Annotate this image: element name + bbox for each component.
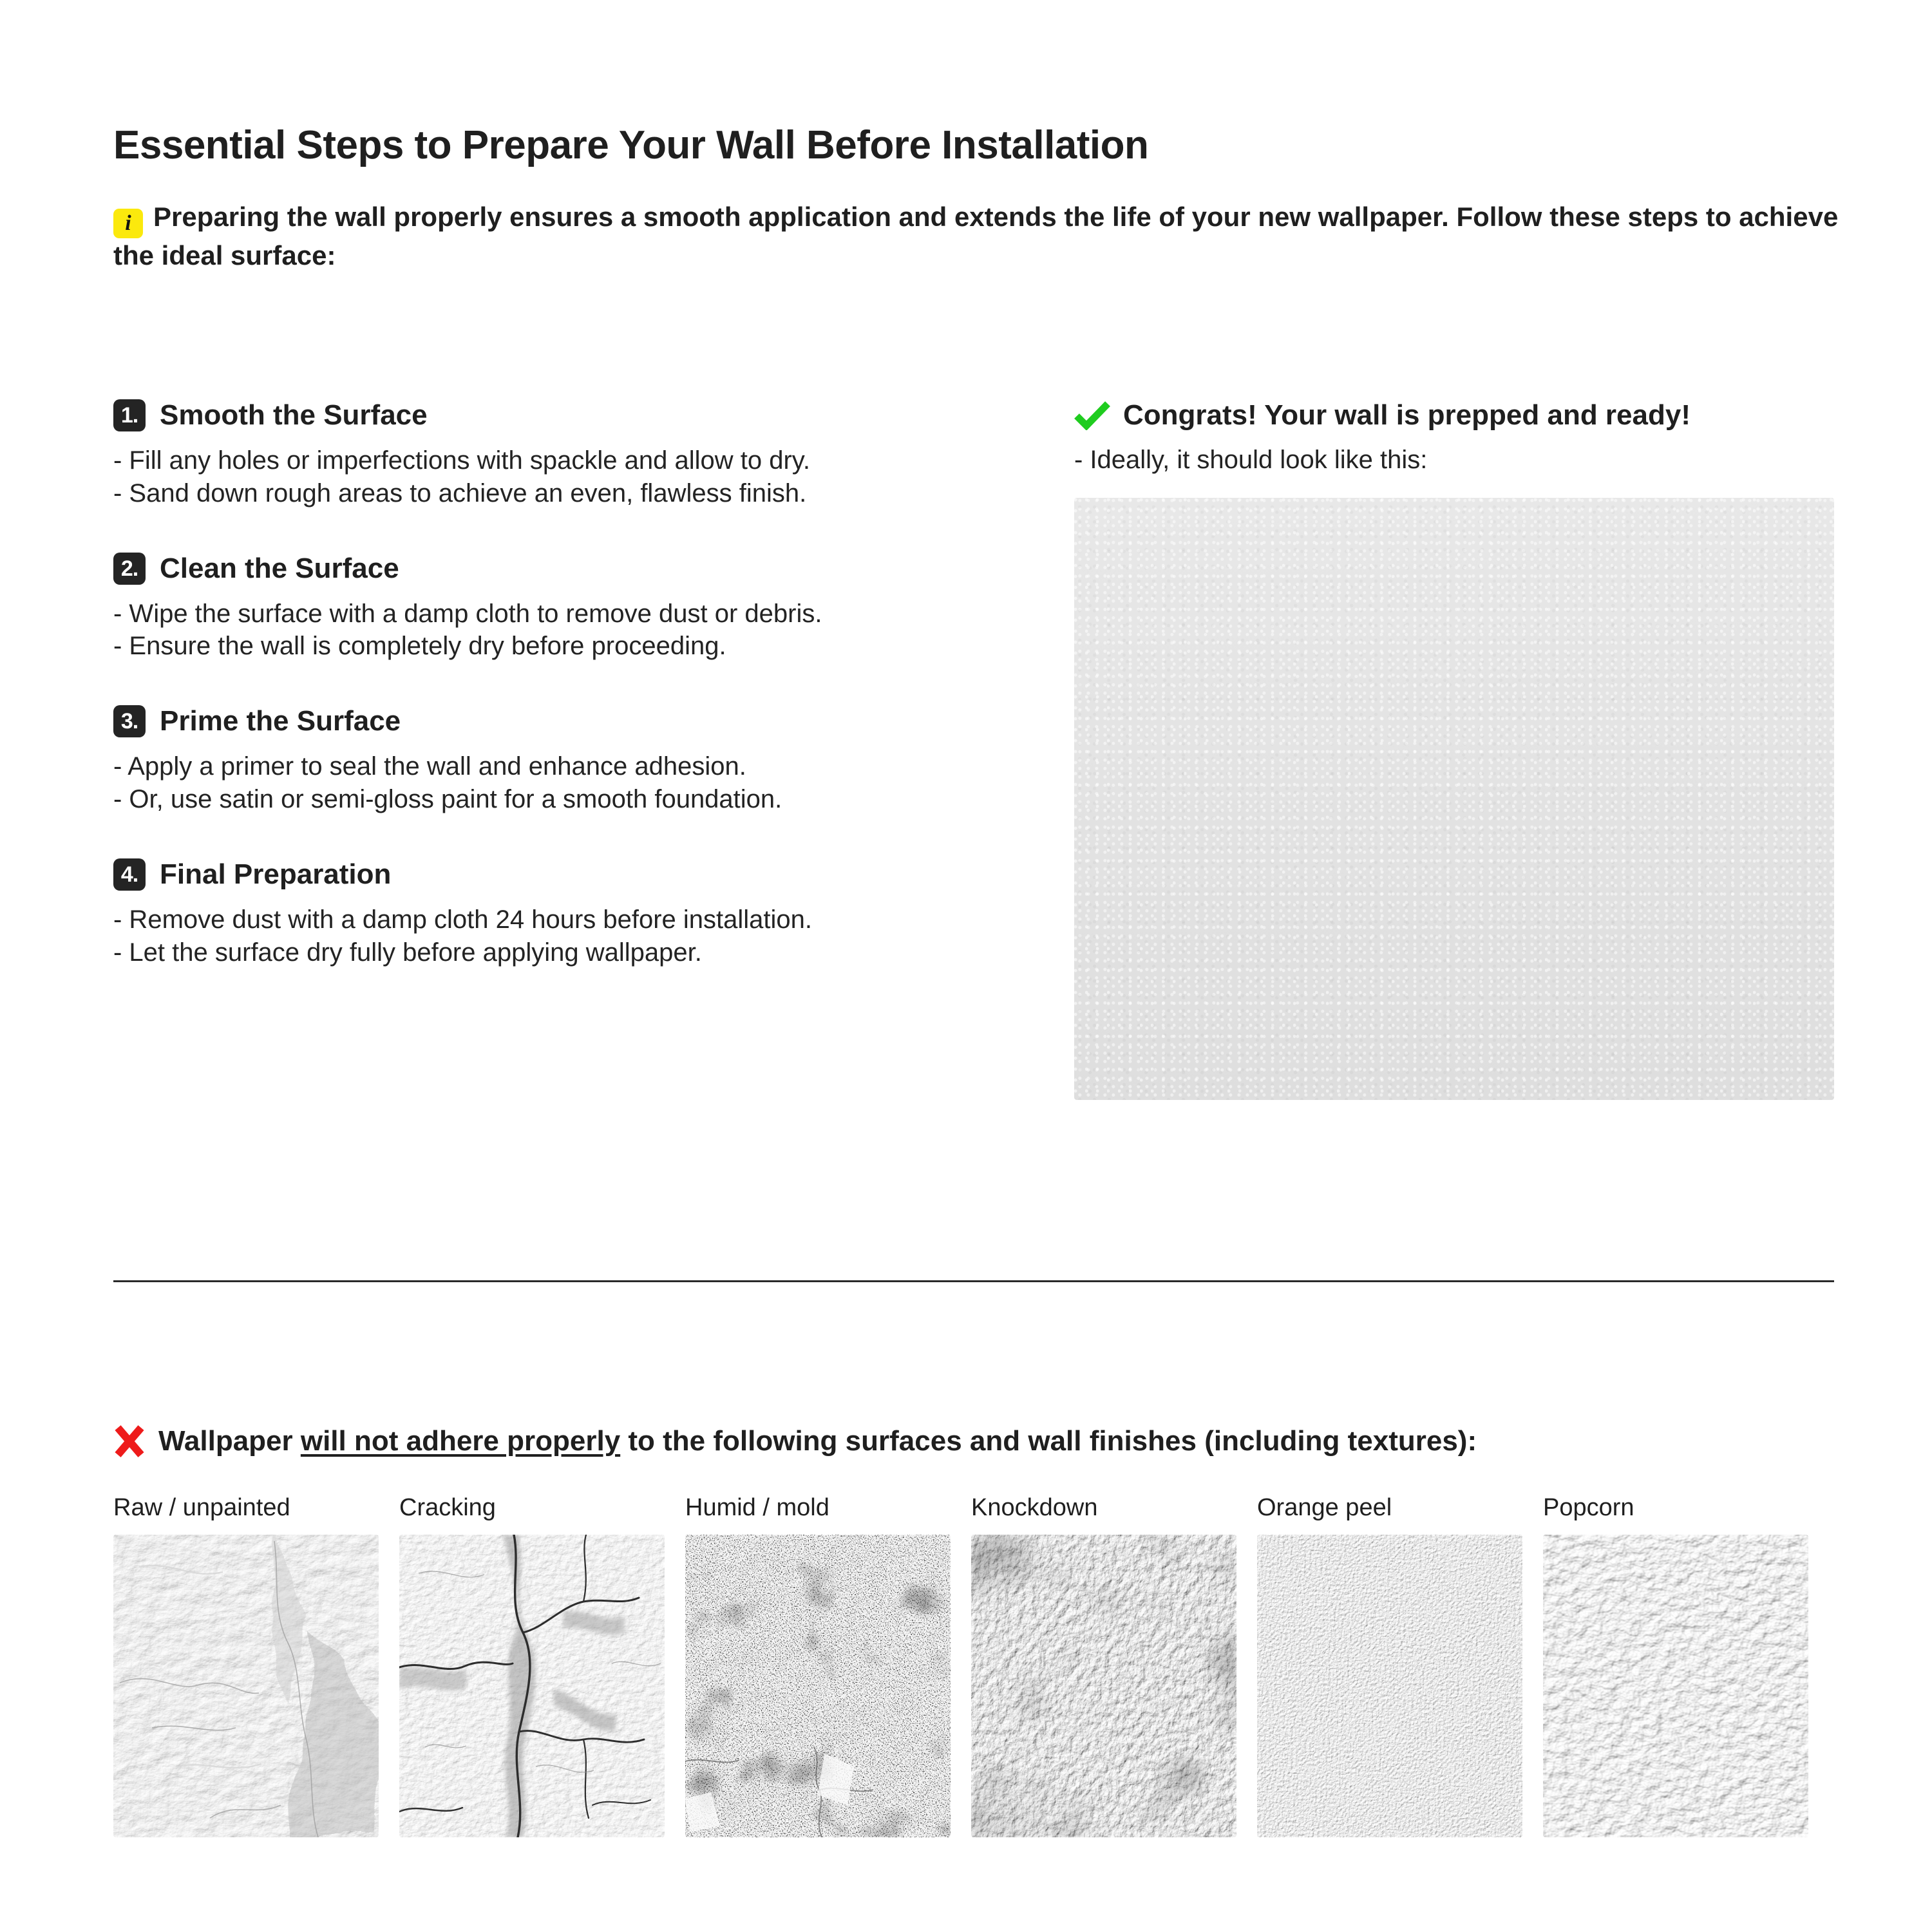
step-number-badge: 3. <box>113 705 146 737</box>
info-icon: i <box>113 209 143 238</box>
step-number-badge: 1. <box>113 399 146 431</box>
step-1: 1. Smooth the Surface - Fill any holes o… <box>113 399 1015 510</box>
texture-label: Cracking <box>399 1494 665 1522</box>
step-number-badge: 4. <box>113 858 146 891</box>
section-divider <box>113 1280 1834 1282</box>
warning-header: Wallpaper will not adhere properly to th… <box>113 1425 1477 1458</box>
texture-cell-orange-peel: Orange peel <box>1257 1494 1522 1837</box>
step-2: 2. Clean the Surface - Wipe the surface … <box>113 553 1015 663</box>
congrats-subtitle: - Ideally, it should look like this: <box>1074 446 1834 475</box>
texture-popcorn <box>1543 1535 1808 1837</box>
intro-text: Preparing the wall properly ensures a sm… <box>113 202 1838 270</box>
step-bullet: - Apply a primer to seal the wall and en… <box>113 750 1015 783</box>
texture-label: Raw / unpainted <box>113 1494 379 1522</box>
step-3-header: 3. Prime the Surface <box>113 705 1015 737</box>
texture-label: Orange peel <box>1257 1494 1522 1522</box>
step-title: Prime the Surface <box>160 705 401 737</box>
step-bullet: - Remove dust with a damp cloth 24 hours… <box>113 904 1015 936</box>
intro-paragraph: iPreparing the wall properly ensures a s… <box>113 200 1839 273</box>
texture-cell-humid-mold: Humid / mold <box>685 1494 951 1837</box>
congrats-header: Congrats! Your wall is prepped and ready… <box>1074 399 1834 431</box>
steps-column: 1. Smooth the Surface - Fill any holes o… <box>113 399 1015 969</box>
congrats-title: Congrats! Your wall is prepped and ready… <box>1123 399 1690 431</box>
texture-cracking <box>399 1535 665 1837</box>
texture-humid-mold <box>685 1535 951 1837</box>
wall-prep-guide-page: Essential Steps to Prepare Your Wall Bef… <box>0 0 1932 1932</box>
step-title: Smooth the Surface <box>160 399 428 431</box>
step-4-header: 4. Final Preparation <box>113 858 1015 891</box>
step-bullet: - Let the surface dry fully before apply… <box>113 936 1015 969</box>
texture-label: Humid / mold <box>685 1494 951 1522</box>
step-bullet: - Ensure the wall is completely dry befo… <box>113 630 1015 663</box>
step-title: Final Preparation <box>160 858 391 891</box>
texture-label: Popcorn <box>1543 1494 1808 1522</box>
congrats-column: Congrats! Your wall is prepped and ready… <box>1074 399 1834 1100</box>
step-bullet: - Sand down rough areas to achieve an ev… <box>113 477 1015 510</box>
ideal-wall-preview <box>1074 498 1834 1100</box>
texture-cell-popcorn: Popcorn <box>1543 1494 1808 1837</box>
x-icon <box>113 1425 146 1458</box>
step-4: 4. Final Preparation - Remove dust with … <box>113 858 1015 969</box>
warning-text-before: Wallpaper <box>158 1425 301 1457</box>
texture-raw-unpainted <box>113 1535 379 1837</box>
step-1-header: 1. Smooth the Surface <box>113 399 1015 431</box>
texture-cell-raw-unpainted: Raw / unpainted <box>113 1494 379 1837</box>
step-bullet: - Or, use satin or semi-gloss paint for … <box>113 783 1015 816</box>
step-number-badge: 2. <box>113 553 146 585</box>
bad-surface-texture-strip: Raw / unpainted <box>113 1494 1834 1837</box>
check-icon <box>1074 401 1110 430</box>
texture-label: Knockdown <box>971 1494 1236 1522</box>
step-3: 3. Prime the Surface - Apply a primer to… <box>113 705 1015 816</box>
warning-text-emphasis: will not adhere properly <box>301 1425 620 1457</box>
step-bullet: - Wipe the surface with a damp cloth to … <box>113 598 1015 630</box>
page-title: Essential Steps to Prepare Your Wall Bef… <box>113 122 1148 168</box>
texture-knockdown <box>971 1535 1236 1837</box>
warning-text: Wallpaper will not adhere properly to th… <box>158 1425 1477 1457</box>
step-2-header: 2. Clean the Surface <box>113 553 1015 585</box>
texture-orange-peel <box>1257 1535 1522 1837</box>
warning-text-after: to the following surfaces and wall finis… <box>620 1425 1477 1457</box>
step-bullet: - Fill any holes or imperfections with s… <box>113 444 1015 477</box>
texture-cell-cracking: Cracking <box>399 1494 665 1837</box>
step-title: Clean the Surface <box>160 553 399 585</box>
texture-cell-knockdown: Knockdown <box>971 1494 1236 1837</box>
